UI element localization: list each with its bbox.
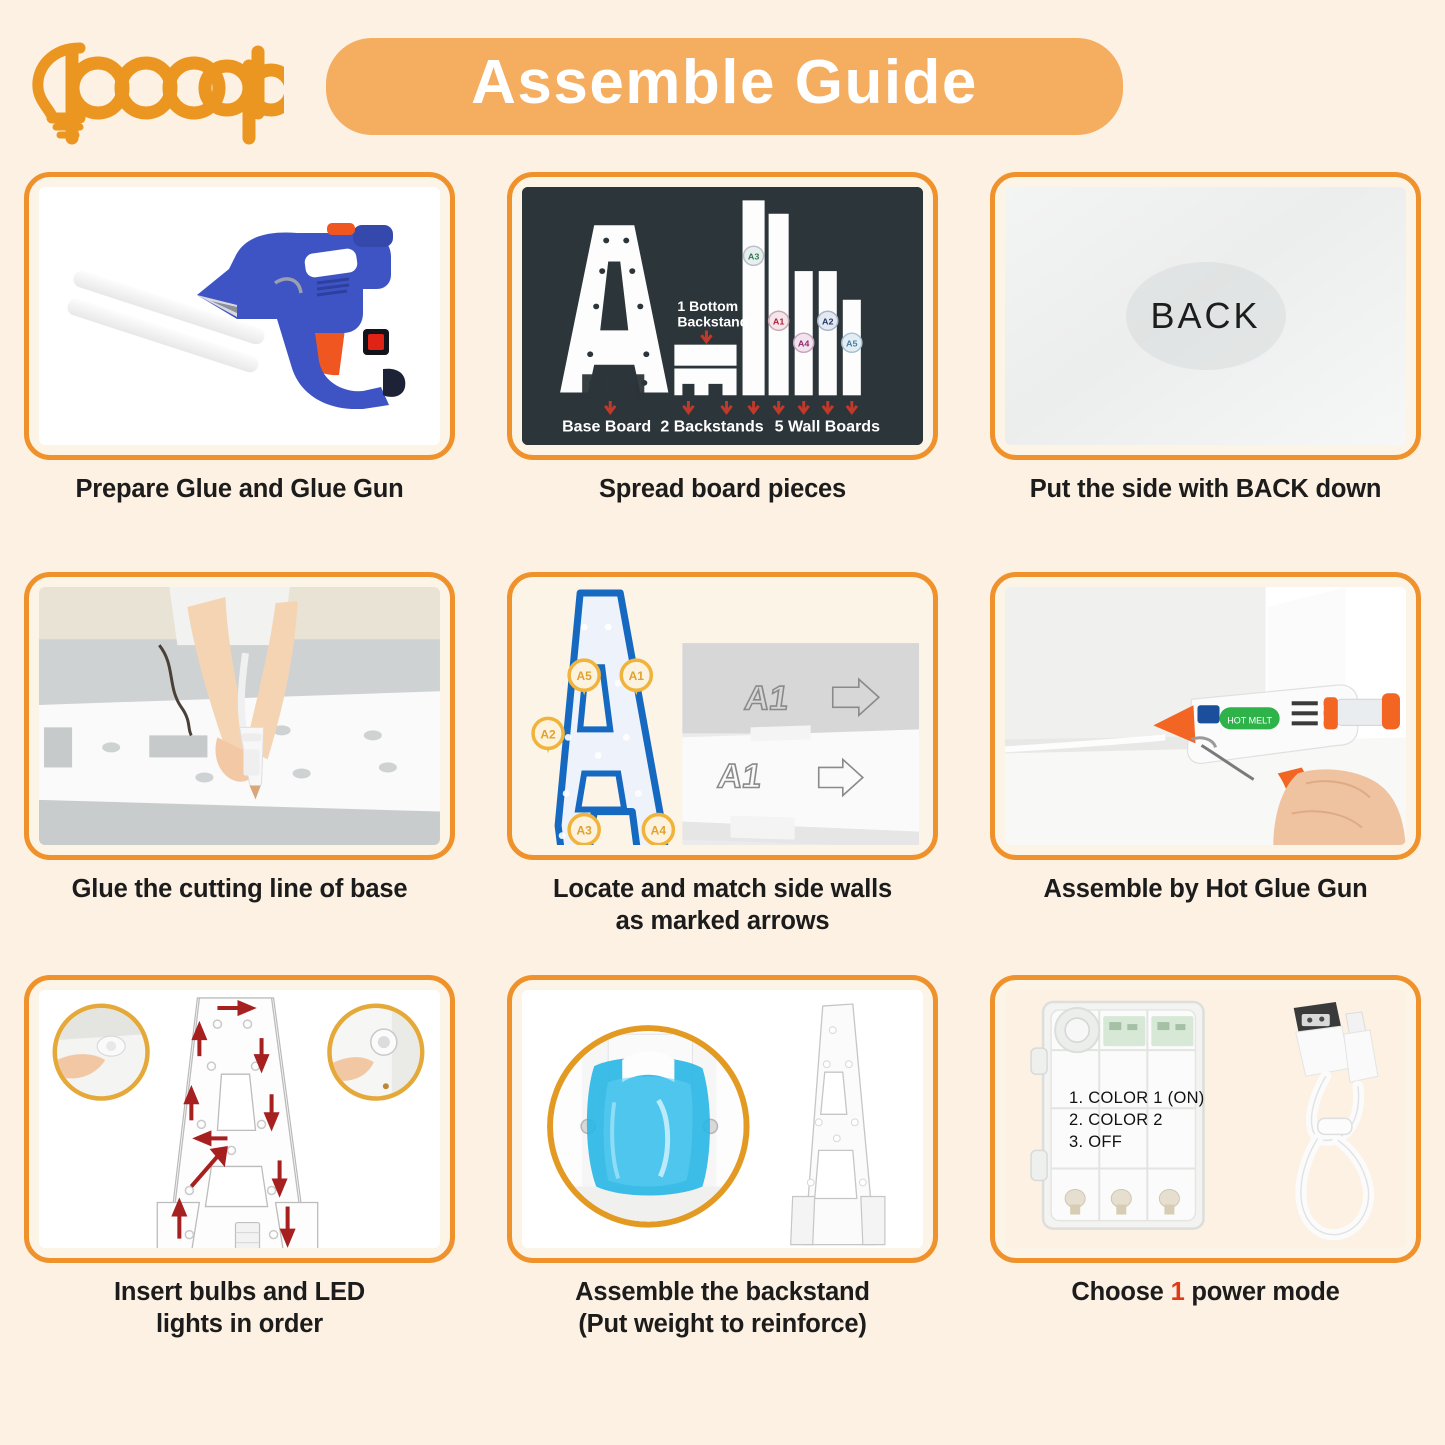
step-panel-7	[24, 975, 455, 1263]
step-caption-9-suffix: power mode	[1185, 1278, 1340, 1306]
step-panel-8	[507, 975, 938, 1263]
step-cell-2: A3 A1 A4 A2 A5 1 Bottom Backs	[507, 172, 938, 572]
svg-text:A5: A5	[576, 669, 592, 683]
svg-text:A4: A4	[798, 339, 810, 349]
hot-glue-assembly-photo: HOT MELT	[1005, 587, 1406, 845]
svg-text:1 Bottom: 1 Bottom	[677, 300, 738, 315]
step-cell-3: BACK Put the side with BACK down	[990, 172, 1421, 572]
svg-text:5 Wall Boards: 5 Wall Boards	[775, 419, 881, 436]
blue-glue-gun-icon	[167, 209, 423, 409]
step-caption-5: Locate and match side walls as marked ar…	[553, 873, 892, 938]
step-cell-1: Prepare Glue and Glue Gun	[24, 172, 455, 572]
power-mode-list: 1. COLOR 1 (ON) 2. COLOR 2 3. OFF	[1069, 1088, 1205, 1153]
step-cell-8: Assemble the backstand (Put weight to re…	[507, 975, 938, 1375]
step-panel-4	[24, 572, 455, 860]
step-caption-8: Assemble the backstand (Put weight to re…	[575, 1276, 870, 1341]
step-caption-1: Prepare Glue and Glue Gun	[76, 473, 404, 505]
step-caption-8-line2: (Put weight to reinforce)	[575, 1308, 870, 1340]
step-caption-4: Glue the cutting line of base	[72, 873, 408, 905]
gluing-base-photo	[39, 587, 440, 845]
svg-text:A1: A1	[629, 669, 645, 683]
svg-text:Base Board: Base Board	[562, 419, 651, 436]
match-side-walls-diagram: A5 A1 A2 A3	[522, 587, 923, 845]
step-caption-8-line1: Assemble the backstand	[575, 1276, 870, 1308]
svg-text:A5: A5	[846, 339, 858, 349]
svg-text:A1: A1	[715, 758, 764, 796]
step-caption-2: Spread board pieces	[599, 473, 846, 505]
lightbulb-icon	[22, 26, 284, 146]
power-mode-item-2: 2. COLOR 2	[1069, 1110, 1205, 1132]
svg-text:A1: A1	[742, 679, 791, 717]
step-caption-3: Put the side with BACK down	[1030, 473, 1382, 505]
svg-text:A3: A3	[748, 252, 760, 262]
step-panel-2: A3 A1 A4 A2 A5 1 Bottom Backs	[507, 172, 938, 460]
step-caption-5-line2: as marked arrows	[553, 905, 892, 937]
step-cell-4: Glue the cutting line of base	[24, 572, 455, 975]
step-cell-6: HOT MELT	[990, 572, 1421, 975]
svg-text:A1: A1	[773, 317, 785, 327]
svg-text:A2: A2	[540, 727, 556, 741]
step-panel-1	[24, 172, 455, 460]
brand-logo	[22, 26, 284, 146]
step-caption-9-number: 1	[1171, 1278, 1185, 1306]
board-pieces-diagram: A3 A1 A4 A2 A5 1 Bottom Backs	[522, 187, 923, 445]
step-cell-9: 1. COLOR 1 (ON) 2. COLOR 2 3. OFF Choose…	[990, 975, 1421, 1375]
page-title-banner: Assemble Guide	[326, 38, 1123, 135]
svg-text:A4: A4	[651, 824, 667, 838]
backstand-weight-photo	[522, 990, 923, 1248]
svg-text:A2: A2	[822, 317, 834, 327]
svg-text:HOT MELT: HOT MELT	[1227, 715, 1272, 725]
power-mode-item-3: 3. OFF	[1069, 1132, 1205, 1154]
step-caption-9-prefix: Choose	[1071, 1278, 1170, 1306]
step-panel-6: HOT MELT	[990, 572, 1421, 860]
step-panel-3: BACK	[990, 172, 1421, 460]
page-title: Assemble Guide	[471, 52, 978, 120]
power-mode-photo: 1. COLOR 1 (ON) 2. COLOR 2 3. OFF	[1005, 990, 1406, 1248]
step-caption-5-line1: Locate and match side walls	[553, 873, 892, 905]
glue-gun-photo	[39, 187, 440, 445]
step-panel-9: 1. COLOR 1 (ON) 2. COLOR 2 3. OFF	[990, 975, 1421, 1263]
step-cell-5: A5 A1 A2 A3	[507, 572, 938, 975]
back-board-text: BACK	[1150, 295, 1260, 337]
page-header: Assemble Guide	[0, 0, 1445, 172]
step-caption-7-line2: lights in order	[114, 1308, 365, 1340]
step-cell-7: Insert bulbs and LED lights in order	[24, 975, 455, 1375]
led-insert-order-diagram	[39, 990, 440, 1248]
step-panel-5: A5 A1 A2 A3	[507, 572, 938, 860]
svg-text:Backstand: Backstand	[677, 315, 748, 330]
svg-text:2 Backstands: 2 Backstands	[660, 419, 764, 436]
steps-grid: Prepare Glue and Glue Gun	[0, 172, 1445, 1375]
svg-text:A3: A3	[576, 824, 592, 838]
step-caption-7-line1: Insert bulbs and LED	[114, 1276, 365, 1308]
power-mode-item-1: 1. COLOR 1 (ON)	[1069, 1088, 1205, 1110]
back-board-photo: BACK	[1005, 187, 1406, 445]
step-caption-6: Assemble by Hot Glue Gun	[1044, 873, 1368, 905]
step-caption-9: Choose 1 power mode	[1071, 1276, 1339, 1308]
step-caption-7: Insert bulbs and LED lights in order	[114, 1276, 365, 1341]
